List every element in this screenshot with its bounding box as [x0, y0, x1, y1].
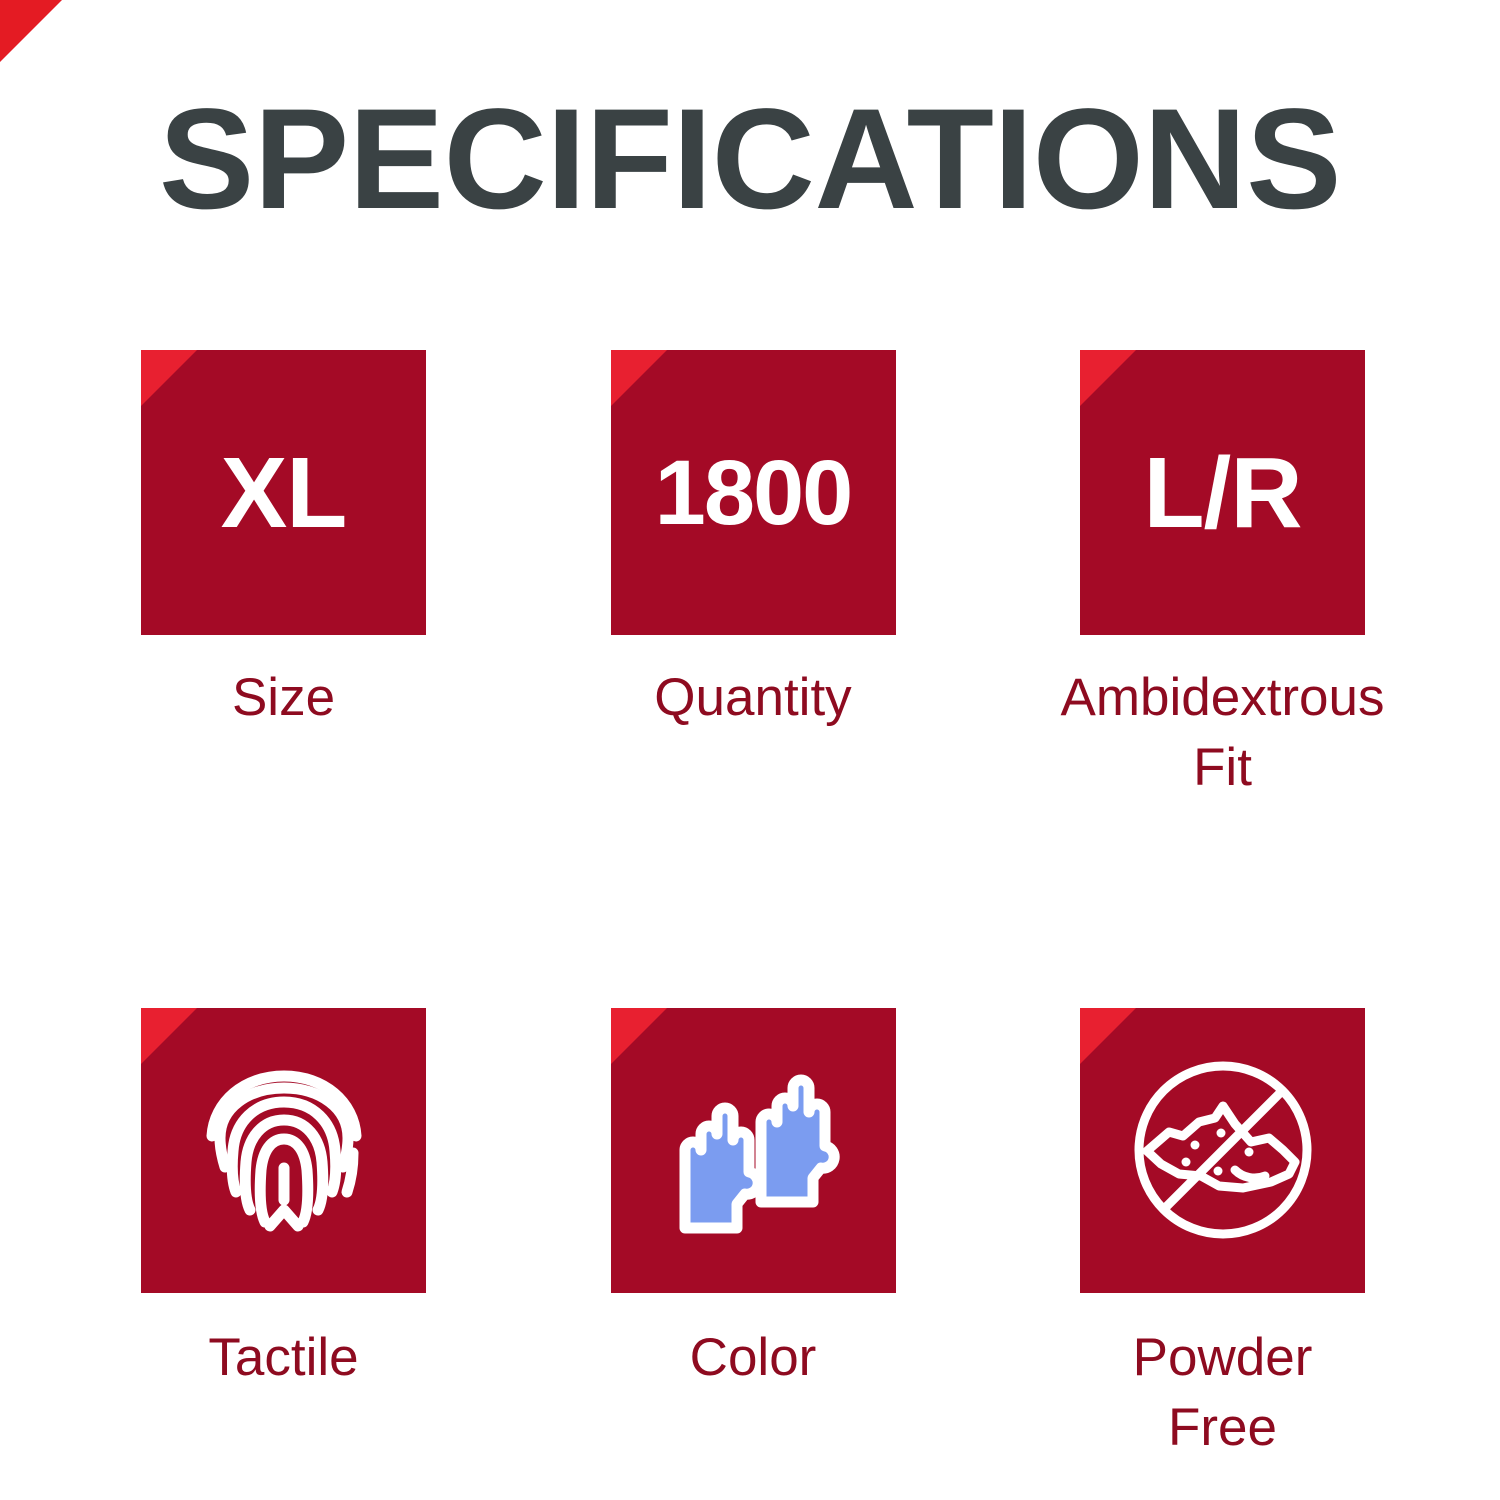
spec-label-line-1: Ambidextrous — [1060, 668, 1384, 727]
spec-label-ambidextrous-fit: AmbidextrousFit — [1043, 663, 1403, 803]
specifications-grid: XL Size 1800 Quantity L/R AmbidextrousFi… — [141, 350, 1365, 1463]
spec-label-color: Color — [573, 1323, 933, 1393]
spec-row-1: XL Size 1800 Quantity L/R AmbidextrousFi… — [141, 350, 1365, 803]
spec-item-powder-free: PowderFree — [1080, 1008, 1365, 1463]
spec-label-line-2: Fit — [1193, 738, 1252, 797]
card-corner-accent-icon — [1080, 350, 1136, 406]
spec-label-line-1: Powder — [1133, 1328, 1313, 1387]
spec-label-tactile: Tactile — [104, 1323, 464, 1393]
spec-label-powder-free: PowderFree — [1043, 1323, 1403, 1463]
spec-value-quantity: 1800 — [655, 447, 852, 539]
card-corner-accent-icon — [141, 350, 197, 406]
spec-item-ambidextrous-fit: L/R AmbidextrousFit — [1080, 350, 1365, 803]
card-corner-accent-icon — [611, 350, 667, 406]
spec-item-size: XL Size — [141, 350, 426, 733]
spec-label-line-2: Free — [1168, 1398, 1277, 1457]
page-title: SPECIFICATIONS — [0, 88, 1500, 231]
spec-row-2: Tactile Color — [141, 1008, 1365, 1463]
fingerprint-icon — [184, 1050, 384, 1250]
spec-card-tactile — [141, 1008, 426, 1293]
spec-item-quantity: 1800 Quantity — [611, 350, 896, 733]
gloves-icon — [653, 1050, 853, 1250]
spec-value-ambidextrous-fit: L/R — [1143, 443, 1301, 543]
spec-card-color — [611, 1008, 896, 1293]
no-powder-icon — [1123, 1050, 1323, 1250]
spec-item-color: Color — [611, 1008, 896, 1393]
spec-card-ambidextrous-fit: L/R — [1080, 350, 1365, 635]
page-corner-accent — [0, 0, 62, 62]
spec-label-size: Size — [104, 663, 464, 733]
spec-item-tactile: Tactile — [141, 1008, 426, 1393]
spec-card-size: XL — [141, 350, 426, 635]
spec-value-size: XL — [221, 443, 347, 543]
spec-label-quantity: Quantity — [573, 663, 933, 733]
spec-card-powder-free — [1080, 1008, 1365, 1293]
spec-card-quantity: 1800 — [611, 350, 896, 635]
